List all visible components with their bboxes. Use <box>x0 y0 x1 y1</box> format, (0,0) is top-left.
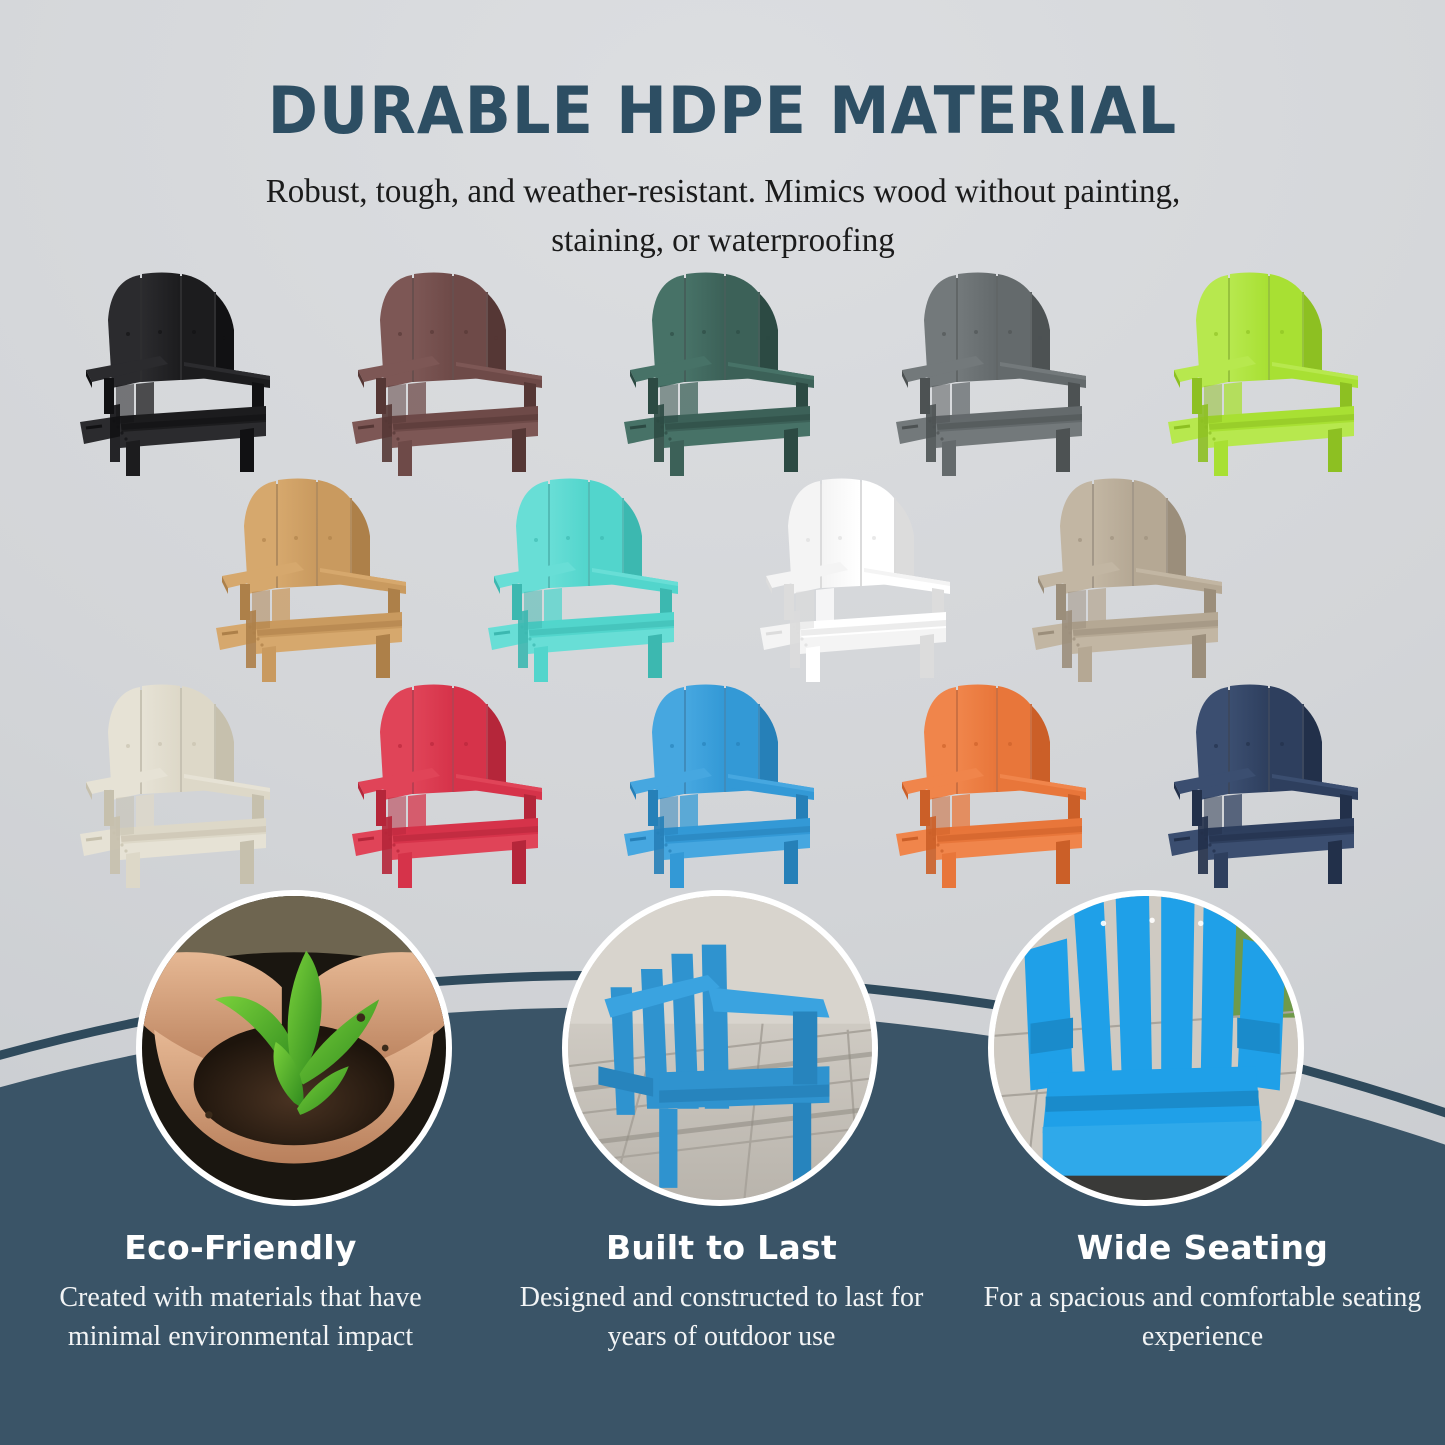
feature-title: Wide Seating <box>980 1228 1425 1267</box>
feature-image-built-to-last <box>562 890 878 1206</box>
chair-swatch-black[interactable] <box>64 266 294 478</box>
chair-swatch-brown[interactable] <box>336 266 566 478</box>
chair-swatch-ivory[interactable] <box>64 678 294 890</box>
page-subtitle: Robust, tough, and weather-resistant. Mi… <box>238 168 1208 265</box>
chair-illustration <box>472 472 702 684</box>
feature-description: Designed and constructed to last for yea… <box>499 1279 944 1356</box>
chair-illustration <box>200 472 430 684</box>
chair-illustration <box>1016 472 1246 684</box>
feature-images <box>0 880 1445 1240</box>
chair-row-3 <box>0 678 1445 890</box>
chair-swatch-dark-green[interactable] <box>608 266 838 478</box>
chair-swatch-turquoise[interactable] <box>472 472 702 684</box>
chair-illustration <box>880 266 1110 478</box>
chair-row-2 <box>0 472 1445 684</box>
chair-swatch-blue[interactable] <box>608 678 838 890</box>
chair-swatch-weathered-wood[interactable] <box>1016 472 1246 684</box>
poster-canvas: DURABLE HDPE MATERIAL Robust, tough, and… <box>0 0 1445 1445</box>
chair-illustration <box>1152 266 1382 478</box>
feature-description: For a spacious and comfortable seating e… <box>980 1279 1425 1356</box>
chair-swatch-red[interactable] <box>336 678 566 890</box>
chair-illustration <box>336 266 566 478</box>
chair-row-1 <box>0 266 1445 478</box>
chair-illustration <box>64 678 294 890</box>
header: DURABLE HDPE MATERIAL Robust, tough, and… <box>0 0 1445 265</box>
chair-illustration <box>608 266 838 478</box>
chair-swatch-orange[interactable] <box>880 678 1110 890</box>
feature-caption-1: Built to Last Designed and constructed t… <box>481 1228 962 1356</box>
chair-illustration <box>336 678 566 890</box>
chair-illustration <box>64 266 294 478</box>
feature-title: Built to Last <box>499 1228 944 1267</box>
feature-image-eco-friendly <box>136 890 452 1206</box>
chair-swatch-lime-green[interactable] <box>1152 266 1382 478</box>
feature-image-wide-seating <box>988 890 1304 1206</box>
feature-caption-0: Eco-Friendly Created with materials that… <box>0 1228 481 1356</box>
chair-illustration <box>1152 678 1382 890</box>
chair-swatch-navy-blue[interactable] <box>1152 678 1382 890</box>
feature-caption-2: Wide Seating For a spacious and comforta… <box>962 1228 1443 1356</box>
chair-illustration <box>608 678 838 890</box>
feature-title: Eco-Friendly <box>18 1228 463 1267</box>
chair-swatch-teak[interactable] <box>200 472 430 684</box>
feature-description: Created with materials that have minimal… <box>18 1279 463 1356</box>
feature-captions: Eco-Friendly Created with materials that… <box>0 1228 1445 1356</box>
chair-swatch-white[interactable] <box>744 472 974 684</box>
page-title: DURABLE HDPE MATERIAL <box>51 78 1395 146</box>
chair-illustration <box>880 678 1110 890</box>
chair-swatch-gray[interactable] <box>880 266 1110 478</box>
chair-illustration <box>744 472 974 684</box>
chair-color-grid <box>0 266 1445 890</box>
